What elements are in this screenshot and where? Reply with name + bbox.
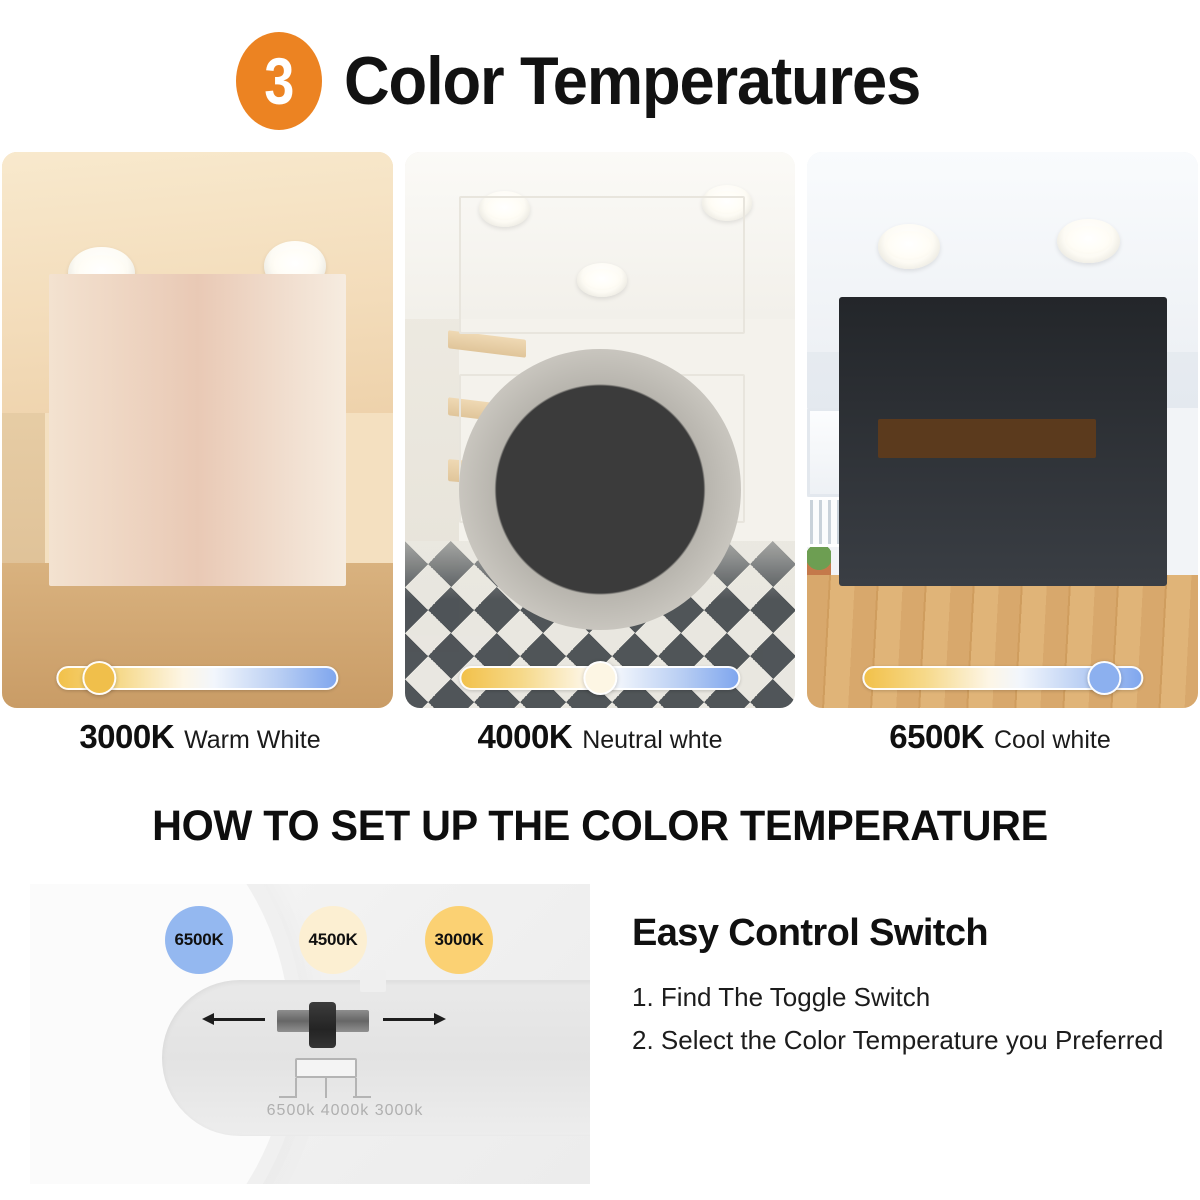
kelvin-description: Cool white	[994, 726, 1111, 755]
temperature-badges: 6500K 4500K 3000K	[135, 906, 535, 974]
bracket-foot	[279, 1096, 297, 1098]
switch-scale-labels: 6500k 4000k 3000k	[255, 1102, 435, 1120]
infographic-page: 3 Color Temperatures	[0, 0, 1200, 1200]
toggle-switch-diagram: 6500k 4000k 3000k	[205, 996, 445, 1146]
kelvin-value: 4000K	[477, 718, 572, 756]
instruction-step: 2. Select the Color Temperature you Pref…	[632, 1022, 1177, 1059]
label-neutral-white: 4000K Neutral whte	[400, 718, 800, 774]
laundry-room-scene-image	[405, 152, 796, 708]
instruction-step: 1. Find The Toggle Switch	[632, 979, 1177, 1016]
bracket-leg	[325, 1078, 327, 1098]
kelvin-description: Neutral whte	[582, 726, 722, 755]
bracket-foot	[353, 1096, 371, 1098]
room-card-cool-kitchen	[807, 152, 1198, 708]
room-card-warm-bedroom	[2, 152, 393, 708]
switch-bracket	[283, 1058, 369, 1098]
temp-badge-4500k: 4500K	[299, 906, 367, 974]
slider-knob[interactable]	[82, 661, 116, 695]
kelvin-value: 6500K	[889, 718, 984, 756]
temp-badge-6500k: 6500K	[165, 906, 233, 974]
ceiling-light-icon	[878, 224, 941, 268]
kelvin-value: 3000K	[79, 718, 174, 756]
arrow-right-icon	[383, 1018, 435, 1021]
label-cool-white: 6500K Cool white	[800, 718, 1200, 774]
page-title: Color Temperatures	[344, 47, 920, 115]
kelvin-description: Warm White	[184, 726, 321, 755]
color-temperature-slider[interactable]	[862, 666, 1143, 690]
color-temperature-labels: 3000K Warm White 4000K Neutral whte 6500…	[0, 718, 1200, 774]
arrow-left-icon	[213, 1018, 265, 1021]
slider-knob[interactable]	[583, 661, 617, 695]
bracket-box	[295, 1058, 357, 1078]
fixture-switch-photo: 6500K 4500K 3000K 6500k 4000k 3000k	[30, 884, 590, 1184]
switch-toggle-knob[interactable]	[309, 1002, 336, 1048]
label-warm-white: 3000K Warm White	[0, 718, 400, 774]
bedroom-scene-image	[2, 152, 393, 708]
instructions-title: Easy Control Switch	[632, 912, 1177, 955]
color-temperature-slider[interactable]	[459, 666, 740, 690]
wall-shelf	[448, 331, 526, 358]
instructions-block: Easy Control Switch 1. Find The Toggle S…	[632, 912, 1177, 1065]
number-badge: 3	[236, 32, 322, 130]
setup-section: 6500K 4500K 3000K 6500k 4000k 3000k	[0, 884, 1200, 1200]
setup-section-heading: HOW TO SET UP THE COLOR TEMPERATURE	[24, 802, 1176, 851]
room-card-neutral-laundry	[405, 152, 796, 708]
ceiling-light-icon	[1057, 219, 1120, 263]
color-temperature-slider[interactable]	[57, 666, 338, 690]
bracket-leg	[295, 1078, 297, 1098]
potted-plant	[807, 547, 830, 575]
color-temperature-cards	[0, 152, 1200, 708]
page-header: 3 Color Temperatures	[0, 26, 1200, 136]
number-badge-label: 3	[265, 48, 294, 114]
kitchen-scene-image	[807, 152, 1198, 708]
slider-knob[interactable]	[1087, 661, 1121, 695]
temp-badge-3000k: 3000K	[425, 906, 493, 974]
bracket-leg	[355, 1078, 357, 1098]
